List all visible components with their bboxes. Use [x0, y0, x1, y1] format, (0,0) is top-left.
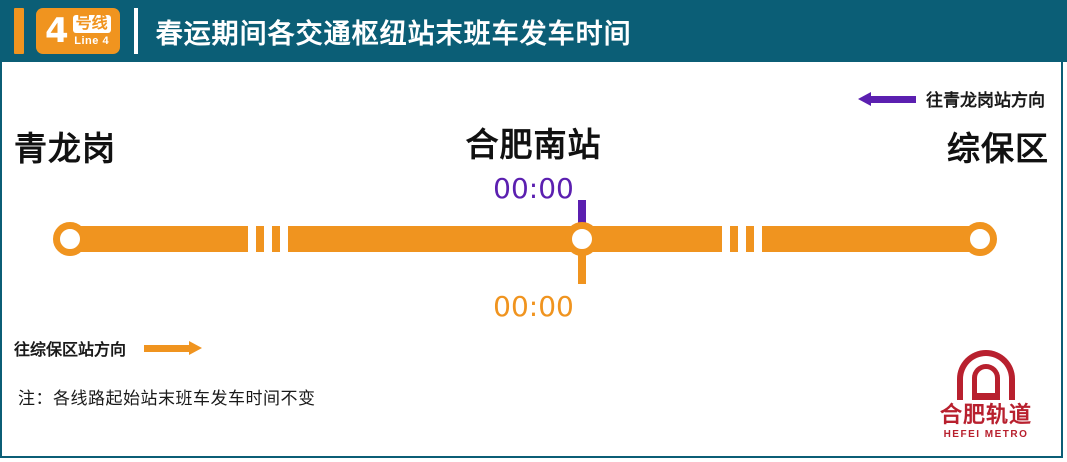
arrow-right-icon	[144, 341, 202, 355]
track-gap	[280, 226, 288, 252]
direction-note-zongbaoqu: 往综保区站方向	[14, 336, 202, 360]
station-name-middle: 合肥南站	[0, 118, 1067, 166]
direction-label-qinglonggang: 往青龙岗站方向	[926, 86, 1045, 111]
direction-label-zongbaoqu: 往综保区站方向	[14, 336, 126, 360]
header-accent-bar	[14, 8, 24, 54]
station-dot-right	[963, 222, 997, 256]
line-label-en: Line 4	[74, 36, 109, 47]
line-badge: 4 号线 Line 4	[36, 8, 120, 54]
track-gap	[264, 226, 272, 252]
logo-text-cn: 合肥轨道	[940, 404, 1032, 426]
line-label-cn: 号线	[73, 15, 111, 33]
station-dot-middle	[565, 222, 599, 256]
track-gap	[248, 226, 256, 252]
header-title: 春运期间各交通枢纽站末班车发车时间	[156, 12, 632, 51]
arrow-left-icon	[858, 92, 916, 106]
line-track	[68, 226, 988, 252]
footnote: 注：各线路起始站末班车发车时间不变	[18, 384, 316, 409]
track-gap	[722, 226, 730, 252]
header-divider	[134, 8, 138, 54]
poster-root: 4 号线 Line 4 春运期间各交通枢纽站末班车发车时间 往青龙岗站方向 青龙…	[0, 0, 1067, 462]
station-name-right: 综保区	[947, 122, 1049, 170]
metro-logo: 合肥轨道 HEFEI METRO	[933, 346, 1039, 440]
track-gap	[754, 226, 762, 252]
direction-note-qinglonggang: 往青龙岗站方向	[858, 86, 1045, 111]
header-bar: 4 号线 Line 4 春运期间各交通枢纽站末班车发车时间	[0, 0, 1067, 62]
metro-logo-icon	[957, 350, 1015, 400]
track-gap	[738, 226, 746, 252]
time-toward-zongbaoqu: 00:00	[0, 290, 1067, 323]
logo-text-en: HEFEI METRO	[944, 429, 1029, 440]
time-toward-qinglonggang: 00:00	[0, 172, 1067, 205]
line-number: 4	[45, 14, 73, 48]
station-dot-left	[53, 222, 87, 256]
